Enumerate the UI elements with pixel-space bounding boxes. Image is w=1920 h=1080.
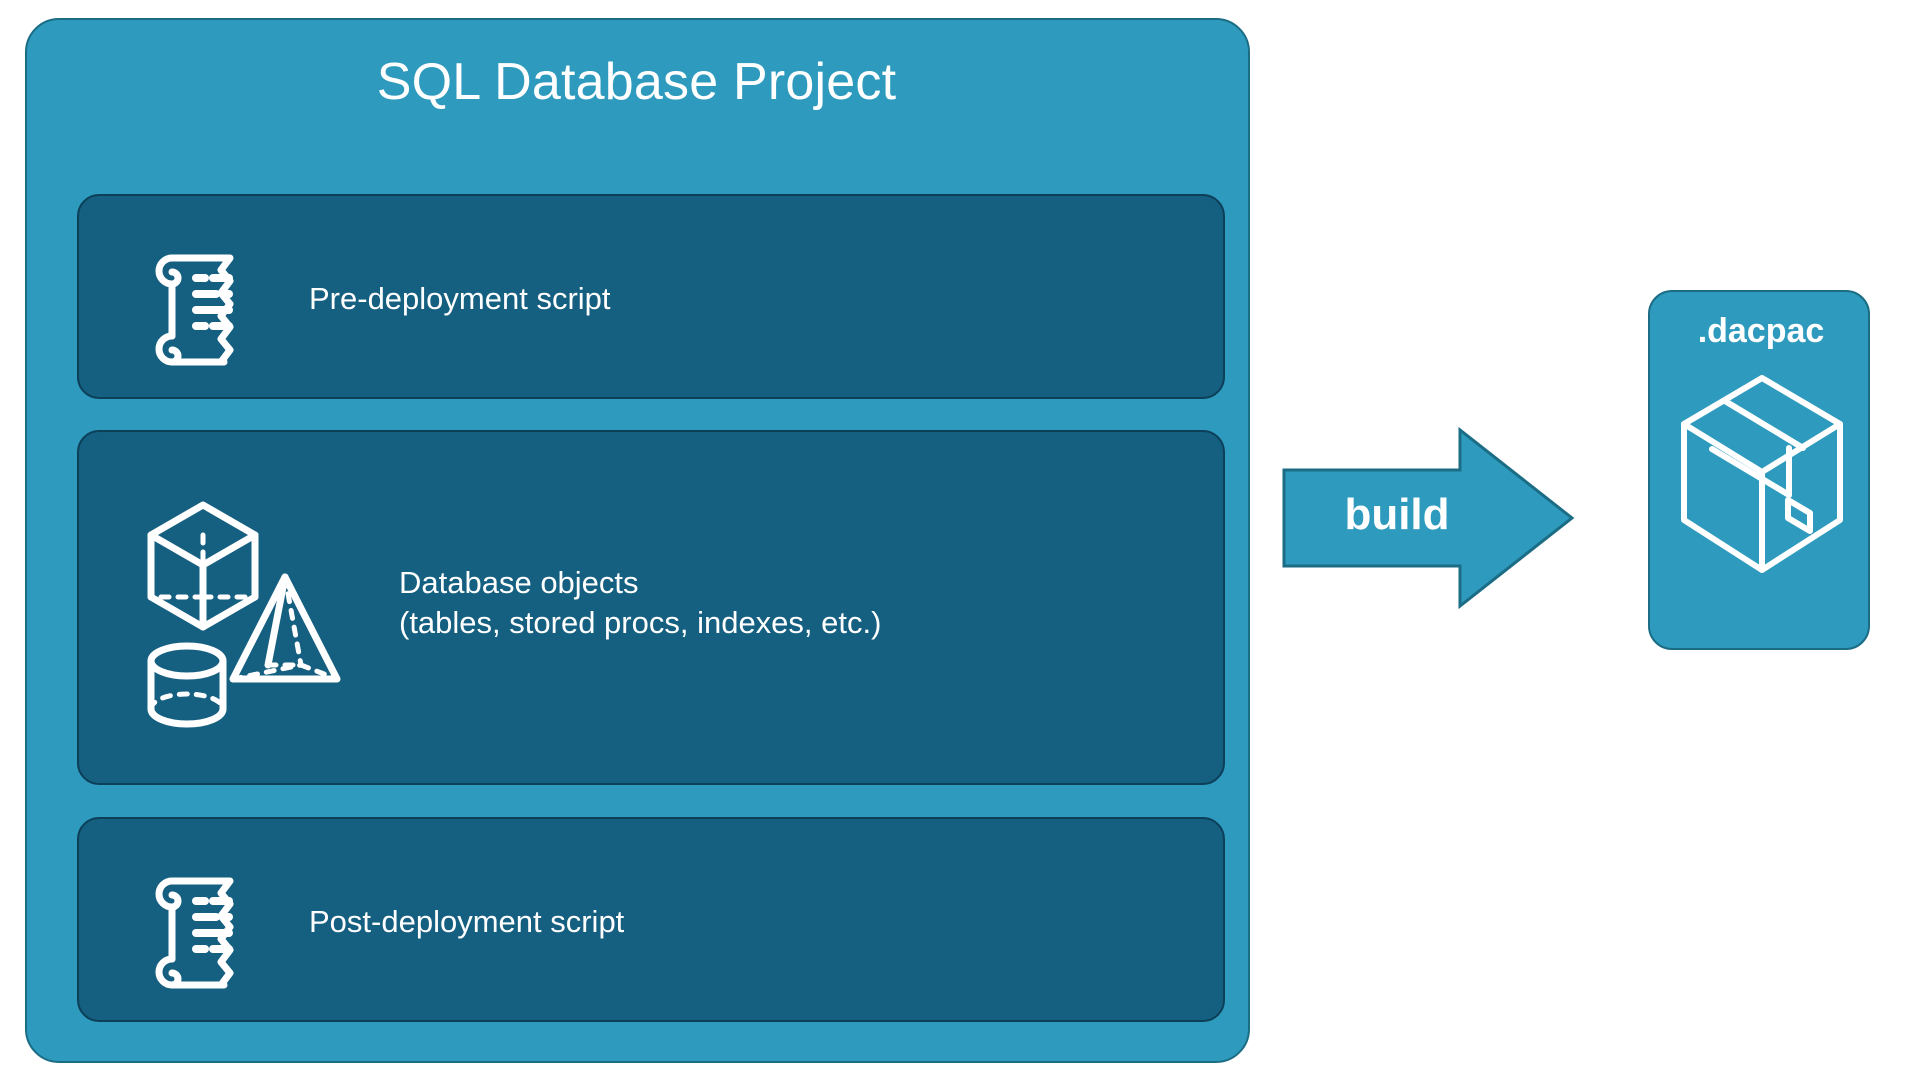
build-arrow-label: build [1282,488,1512,542]
card-post-deployment-label: Post-deployment script [309,902,624,942]
dacpac-output-card[interactable]: .dacpac [1648,290,1870,650]
project-title-text: SQL Database Project [377,53,896,111]
3d-shapes-icon [137,487,367,737]
sql-database-project-container: SQL Database Project [25,18,1250,1063]
scroll-icon [141,240,251,358]
card-pre-deployment-script[interactable]: Pre-deployment script [77,194,1225,399]
scroll-icon [141,863,251,981]
database-objects-line1: Database objects [399,565,639,600]
card-database-objects-label: Database objects (tables, stored procs, … [399,563,881,643]
package-box-icon [1676,370,1848,580]
card-pre-deployment-label: Pre-deployment script [309,279,611,319]
database-objects-line2: (tables, stored procs, indexes, etc.) [399,603,881,643]
card-database-objects[interactable]: Database objects (tables, stored procs, … [77,430,1225,785]
dacpac-title: .dacpac [1650,310,1872,352]
card-post-deployment-script[interactable]: Post-deployment script [77,817,1225,1022]
page-title: SQL Database Project [27,52,1252,112]
diagram-canvas: SQL Database Project [0,0,1920,1080]
